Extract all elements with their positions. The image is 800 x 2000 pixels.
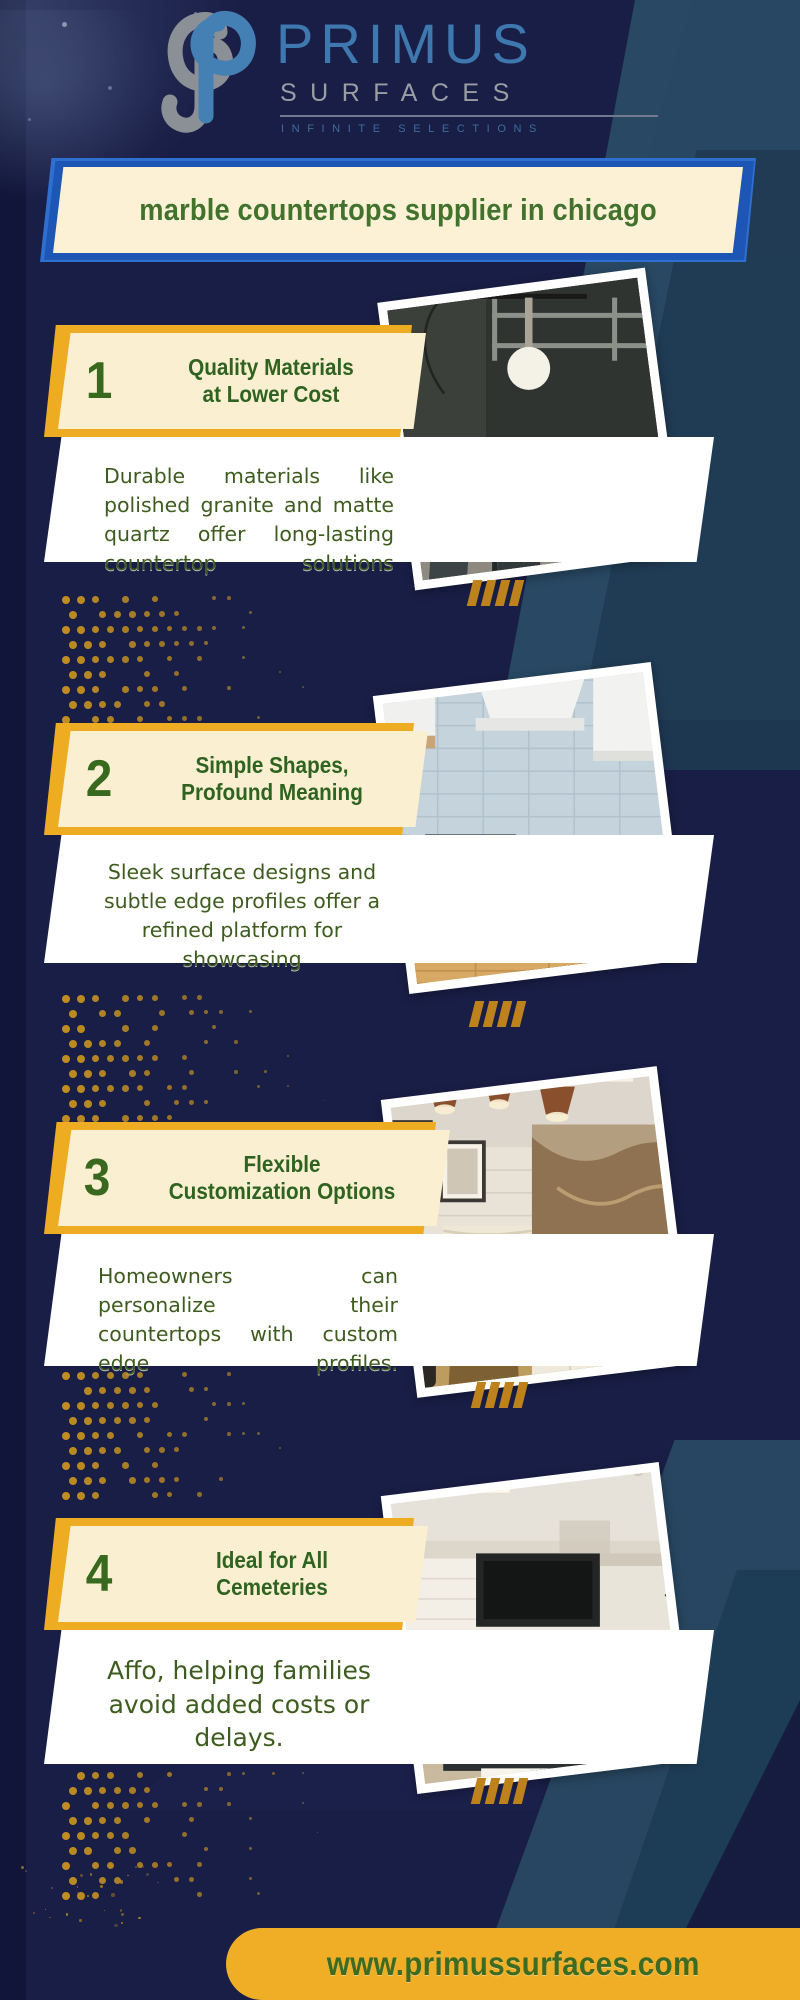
halftone-dot — [62, 1372, 70, 1380]
halftone-dot — [242, 1432, 245, 1435]
halftone-dot — [92, 1115, 99, 1122]
halftone-dot — [137, 1085, 143, 1091]
halftone-dot — [77, 1462, 85, 1470]
card-3-dot-pattern — [62, 1372, 342, 1502]
halftone-dot — [69, 1787, 77, 1795]
halftone-dot — [212, 626, 216, 630]
halftone-dot — [212, 1402, 216, 1406]
halftone-dot — [242, 626, 245, 629]
halftone-dot — [114, 1847, 121, 1854]
halftone-dot — [84, 1847, 92, 1855]
halftone-dot — [99, 1477, 106, 1484]
halftone-dot — [137, 1772, 143, 1778]
halftone-dot — [152, 995, 158, 1001]
halftone-dot — [92, 656, 99, 663]
brand-name: PRIMUS — [276, 16, 660, 72]
halftone-dot — [77, 1772, 85, 1780]
halftone-dot — [122, 686, 129, 693]
halftone-dot — [152, 626, 158, 632]
halftone-dot — [197, 716, 202, 721]
halftone-dot — [137, 1432, 143, 1438]
halftone-dot — [144, 1100, 150, 1106]
halftone-dot — [99, 1877, 106, 1884]
halftone-dot — [84, 701, 92, 709]
halftone-dot — [77, 656, 85, 664]
halftone-dot — [84, 1817, 92, 1825]
halftone-dot — [99, 611, 106, 618]
halftone-dot — [152, 1462, 158, 1468]
halftone-dot — [99, 1387, 106, 1394]
halftone-dot — [99, 701, 106, 708]
halftone-dot — [219, 1477, 223, 1481]
halftone-dot — [92, 716, 99, 723]
card-2-number: 2 — [70, 753, 127, 805]
halftone-dot — [77, 1085, 85, 1093]
halftone-dot — [144, 1787, 150, 1793]
halftone-dot — [69, 641, 77, 649]
halftone-dot — [107, 1862, 114, 1869]
halftone-dot — [62, 1402, 70, 1410]
halftone-dot — [129, 1477, 136, 1484]
halftone-dot — [129, 641, 136, 648]
halftone-dot — [144, 1040, 150, 1046]
halftone-dot — [84, 671, 92, 679]
card-1-number: 1 — [70, 355, 127, 407]
halftone-dot — [77, 596, 85, 604]
card-4-title: Ideal for All Cemeteries — [144, 1547, 400, 1600]
halftone-dot — [69, 1417, 77, 1425]
halftone-dot — [77, 1492, 85, 1500]
halftone-dot — [204, 1787, 208, 1791]
halftone-dot — [122, 1832, 129, 1839]
halftone-dot — [197, 1892, 202, 1897]
halftone-dot — [249, 611, 252, 614]
halftone-dot — [107, 656, 114, 663]
halftone-dot — [122, 1085, 129, 1092]
halftone-dot — [137, 716, 143, 722]
halftone-dot — [129, 1787, 136, 1794]
halftone-dot — [272, 1772, 275, 1775]
halftone-dot — [144, 1817, 150, 1823]
halftone-dot — [137, 686, 143, 692]
halftone-dot — [129, 1387, 136, 1394]
halftone-dot — [92, 1372, 99, 1379]
halftone-dot — [242, 1772, 245, 1775]
halftone-dot — [99, 1070, 106, 1077]
halftone-dot — [174, 641, 179, 646]
halftone-dot — [62, 1862, 70, 1870]
card-1-title: Quality Materials at Lower Cost — [144, 354, 398, 407]
halftone-dot — [77, 1055, 85, 1063]
halftone-dot — [122, 1115, 129, 1122]
brand-logo[interactable]: PRIMUS SURFACES INFINITE SELECTIONS — [150, 4, 670, 144]
halftone-dot — [152, 1115, 158, 1121]
halftone-dot — [189, 1877, 194, 1882]
halftone-dot — [62, 1025, 70, 1033]
halftone-dot — [197, 1862, 202, 1867]
card-3-title: Flexible Customization Options — [142, 1151, 423, 1204]
halftone-dot — [212, 596, 216, 600]
halftone-dot — [227, 1402, 231, 1406]
halftone-dot — [204, 1847, 208, 1851]
halftone-dot — [152, 596, 158, 602]
halftone-dot — [99, 1817, 106, 1824]
halftone-dot — [129, 611, 136, 618]
accent-stripe — [471, 1382, 486, 1408]
halftone-dot — [84, 1100, 92, 1108]
halftone-dot — [144, 611, 150, 617]
halftone-dot — [99, 1010, 106, 1017]
halftone-dot — [144, 1070, 150, 1076]
halftone-dot — [182, 626, 187, 631]
halftone-dot — [144, 671, 150, 677]
halftone-dot — [62, 1462, 70, 1470]
brand-tagline: INFINITE SELECTIONS — [281, 124, 660, 135]
halftone-dot — [129, 1070, 136, 1077]
halftone-dot — [62, 1892, 70, 1900]
halftone-dot — [182, 1055, 187, 1060]
halftone-dot — [174, 671, 179, 676]
accent-stripe — [469, 1001, 484, 1027]
halftone-dot — [189, 1817, 194, 1822]
halftone-dot — [77, 995, 85, 1003]
halftone-dot — [122, 1372, 129, 1379]
halftone-dot — [92, 1492, 99, 1499]
halftone-dot — [129, 1417, 136, 1424]
halftone-dot — [197, 995, 202, 1000]
halftone-dot — [219, 1010, 223, 1014]
halftone-dot — [62, 686, 70, 694]
halftone-dot — [182, 1832, 187, 1837]
halftone-dot — [92, 995, 99, 1002]
halftone-dot — [62, 1832, 70, 1840]
halftone-dot — [219, 1787, 223, 1791]
halftone-dot — [107, 1402, 114, 1409]
halftone-dot — [257, 716, 260, 719]
halftone-dot — [189, 1387, 194, 1392]
halftone-dot — [249, 1877, 252, 1880]
halftone-dot — [84, 1387, 92, 1395]
halftone-dot — [257, 1085, 260, 1088]
sparkle-icon — [79, 1919, 82, 1922]
card-3-number: 3 — [70, 1152, 123, 1204]
halftone-dot — [122, 1462, 129, 1469]
halftone-dot — [152, 1025, 158, 1031]
halftone-dot — [114, 1387, 121, 1394]
halftone-dot — [122, 1025, 129, 1032]
halftone-dot — [99, 1100, 106, 1107]
halftone-dot — [84, 1447, 92, 1455]
halftone-dot — [84, 1787, 92, 1795]
halftone-dot — [92, 1402, 99, 1409]
halftone-dot — [62, 656, 70, 664]
halftone-dot — [107, 1832, 114, 1839]
halftone-dot — [114, 1817, 121, 1824]
halftone-dot — [167, 1432, 172, 1437]
halftone-dot — [182, 1802, 187, 1807]
halftone-dot — [137, 995, 143, 1001]
accent-stripe — [499, 1778, 514, 1804]
card-1-accent-underbar — [470, 580, 760, 606]
halftone-dot — [197, 626, 202, 631]
halftone-dot — [167, 656, 172, 661]
halftone-dot — [159, 1447, 165, 1453]
halftone-dot — [174, 611, 179, 616]
sparkle-icon — [51, 1887, 54, 1890]
halftone-dot — [92, 1772, 99, 1779]
halftone-dot — [107, 626, 114, 633]
halftone-dot — [317, 1832, 318, 1833]
halftone-dot — [62, 1085, 70, 1093]
halftone-dot — [122, 995, 129, 1002]
card-4-number: 4 — [70, 1548, 127, 1600]
brand-wordmark: PRIMUS SURFACES INFINITE SELECTIONS — [276, 4, 660, 135]
halftone-dot — [174, 1100, 179, 1105]
accent-stripe — [483, 1001, 498, 1027]
sparkle-icon — [49, 1917, 50, 1918]
halftone-dot — [92, 1832, 99, 1839]
halftone-dot — [84, 1477, 92, 1485]
halftone-dot — [174, 1447, 179, 1452]
page-title-banner: marble countertops supplier in chicago — [40, 158, 756, 262]
halftone-dot — [227, 1802, 231, 1806]
halftone-dot — [107, 1772, 114, 1779]
accent-stripe — [499, 1382, 514, 1408]
halftone-dot — [287, 1085, 289, 1087]
halftone-dot — [234, 1040, 238, 1044]
halftone-dot — [122, 596, 129, 603]
card-2-head-panel: 2 Simple Shapes, Profound Meaning — [58, 731, 428, 827]
halftone-dot — [182, 1085, 187, 1090]
card-2-accent-underbar — [472, 1001, 758, 1027]
halftone-dot — [107, 1432, 114, 1439]
halftone-dot — [182, 1432, 187, 1437]
card-4-head-panel: 4 Ideal for All Cemeteries — [58, 1526, 428, 1622]
halftone-dot — [62, 1432, 70, 1440]
halftone-dot — [144, 1477, 150, 1483]
halftone-dot — [227, 1432, 231, 1436]
halftone-dot — [242, 656, 245, 659]
halftone-dot — [204, 641, 208, 645]
halftone-dot — [159, 1010, 165, 1016]
halftone-dot — [137, 1115, 143, 1121]
halftone-dot — [107, 716, 114, 723]
halftone-dot — [324, 1100, 325, 1101]
halftone-dot — [137, 626, 143, 632]
halftone-dot — [77, 1115, 85, 1123]
halftone-dot — [92, 1892, 99, 1899]
halftone-dot — [77, 1372, 85, 1380]
halftone-dot — [152, 1862, 158, 1868]
halftone-dot — [69, 1847, 77, 1855]
halftone-dot — [122, 1802, 129, 1809]
halftone-dot — [182, 686, 187, 691]
halftone-dot — [99, 1040, 106, 1047]
website-url: www.primussurfaces.com — [327, 1945, 700, 1983]
halftone-dot — [92, 1802, 99, 1809]
halftone-dot — [84, 1040, 92, 1048]
halftone-dot — [92, 1085, 99, 1092]
halftone-dot — [167, 1492, 172, 1497]
accent-stripe — [513, 1382, 528, 1408]
halftone-dot — [137, 1402, 143, 1408]
halftone-dot — [167, 1085, 172, 1090]
card-3-accent-underbar — [474, 1382, 760, 1408]
primus-monogram-icon — [150, 6, 270, 136]
halftone-dot — [159, 611, 165, 617]
halftone-dot — [137, 1372, 143, 1378]
accent-stripe — [495, 580, 510, 606]
halftone-dot — [62, 1802, 70, 1810]
halftone-dot — [84, 1417, 92, 1425]
card-2-body-text: Sleek surface designs and subtle edge pr… — [92, 858, 392, 974]
halftone-dot — [69, 1040, 77, 1048]
sparkle-icon — [121, 1922, 123, 1924]
halftone-dot — [122, 626, 129, 633]
halftone-dot — [257, 1892, 260, 1895]
card-2-title: Simple Shapes, Profound Meaning — [144, 752, 400, 805]
halftone-dot — [114, 1877, 121, 1884]
halftone-dot — [99, 1787, 106, 1794]
halftone-dot — [159, 701, 165, 707]
card-1-body-text: Durable materials like polished granite … — [104, 462, 394, 608]
card-3-head-panel: 3 Flexible Customization Options — [58, 1130, 450, 1226]
halftone-dot — [92, 1055, 99, 1062]
accent-stripe — [511, 1001, 526, 1027]
sparkle-icon — [114, 1924, 117, 1927]
halftone-dot — [167, 1115, 172, 1120]
halftone-dot — [144, 1417, 150, 1423]
halftone-dot — [152, 1802, 158, 1808]
brand-divider — [280, 115, 658, 117]
halftone-dot — [107, 1085, 114, 1092]
sparkle-icon — [45, 1909, 46, 1910]
page-title: marble countertops supplier in chicago — [139, 192, 657, 228]
halftone-dot — [122, 656, 129, 663]
halftone-dot — [264, 1070, 267, 1073]
halftone-dot — [92, 626, 99, 633]
halftone-dot — [114, 1787, 121, 1794]
halftone-dot — [189, 1010, 194, 1015]
footer-website-bar[interactable]: www.primussurfaces.com — [226, 1928, 800, 2000]
card-2-dot-pattern — [62, 995, 342, 1125]
halftone-dot — [189, 641, 194, 646]
halftone-dot — [62, 1492, 70, 1500]
halftone-dot — [182, 1372, 187, 1377]
halftone-dot — [197, 1802, 202, 1807]
halftone-dot — [122, 1055, 129, 1062]
halftone-dot — [77, 1025, 85, 1033]
halftone-dot — [92, 686, 99, 693]
halftone-dot — [69, 1877, 77, 1885]
halftone-dot — [227, 1372, 231, 1376]
halftone-dot — [92, 1862, 99, 1869]
halftone-dot — [99, 1417, 106, 1424]
halftone-dot — [77, 686, 85, 694]
halftone-dot — [69, 1070, 77, 1078]
halftone-dot — [84, 641, 92, 649]
halftone-dot — [114, 1040, 121, 1047]
sparkle-icon — [138, 1917, 141, 1920]
halftone-dot — [137, 656, 143, 662]
halftone-dot — [69, 1010, 77, 1018]
accent-stripe — [513, 1778, 528, 1804]
halftone-dot — [174, 1477, 179, 1482]
accent-stripe — [471, 1778, 486, 1804]
halftone-dot — [62, 1055, 70, 1063]
halftone-dot — [197, 1492, 202, 1497]
bg-left-edge-strip — [0, 0, 26, 2000]
halftone-dot — [227, 686, 231, 690]
sparkle-icon — [21, 1866, 24, 1869]
halftone-dot — [242, 1402, 245, 1405]
halftone-dot — [129, 1847, 136, 1854]
halftone-dot — [92, 1462, 99, 1469]
halftone-dot — [144, 1387, 150, 1393]
halftone-dot — [197, 656, 202, 661]
accent-stripe — [497, 1001, 512, 1027]
halftone-dot — [302, 686, 304, 688]
halftone-dot — [227, 1772, 231, 1776]
halftone-dot — [204, 1100, 208, 1104]
halftone-dot — [77, 1832, 85, 1840]
halftone-dot — [249, 1847, 252, 1850]
accent-stripe — [485, 1778, 500, 1804]
halftone-dot — [204, 1387, 208, 1391]
halftone-dot — [234, 1070, 238, 1074]
halftone-dot — [99, 1447, 106, 1454]
halftone-dot — [107, 1055, 114, 1062]
halftone-dot — [77, 626, 85, 634]
halftone-dot — [152, 1402, 158, 1408]
halftone-dot — [137, 1055, 143, 1061]
sparkle-icon — [25, 1870, 27, 1872]
title-banner-panel: marble countertops supplier in chicago — [53, 167, 743, 253]
halftone-dot — [62, 596, 70, 604]
halftone-dot — [257, 1432, 260, 1435]
halftone-dot — [212, 1025, 216, 1029]
halftone-dot — [114, 1417, 121, 1424]
halftone-dot — [122, 1402, 129, 1409]
halftone-dot — [144, 641, 150, 647]
halftone-dot — [69, 1817, 77, 1825]
halftone-dot — [77, 1402, 85, 1410]
card-4-body-text: Affo, helping families avoid added costs… — [84, 1654, 394, 1755]
halftone-dot — [189, 1070, 194, 1075]
card-1-head-panel: 1 Quality Materials at Lower Cost — [58, 333, 426, 429]
halftone-dot — [107, 1802, 114, 1809]
card-1-dot-pattern — [62, 596, 342, 726]
halftone-dot — [287, 1055, 289, 1057]
accent-stripe — [509, 580, 524, 606]
sparkle-icon — [121, 1913, 124, 1916]
site-header: PRIMUS SURFACES INFINITE SELECTIONS — [0, 0, 800, 150]
accent-stripe — [467, 580, 482, 606]
halftone-dot — [69, 671, 77, 679]
halftone-dot — [204, 1010, 208, 1014]
halftone-dot — [152, 686, 158, 692]
halftone-dot — [174, 1877, 179, 1882]
halftone-dot — [114, 611, 121, 618]
halftone-dot — [137, 1802, 143, 1808]
halftone-dot — [249, 1010, 252, 1013]
card-4-dot-pattern — [62, 1772, 342, 1912]
halftone-dot — [92, 1432, 99, 1439]
halftone-dot — [144, 1447, 150, 1453]
halftone-dot — [144, 701, 150, 707]
halftone-dot — [114, 701, 121, 708]
halftone-dot — [189, 1100, 194, 1105]
